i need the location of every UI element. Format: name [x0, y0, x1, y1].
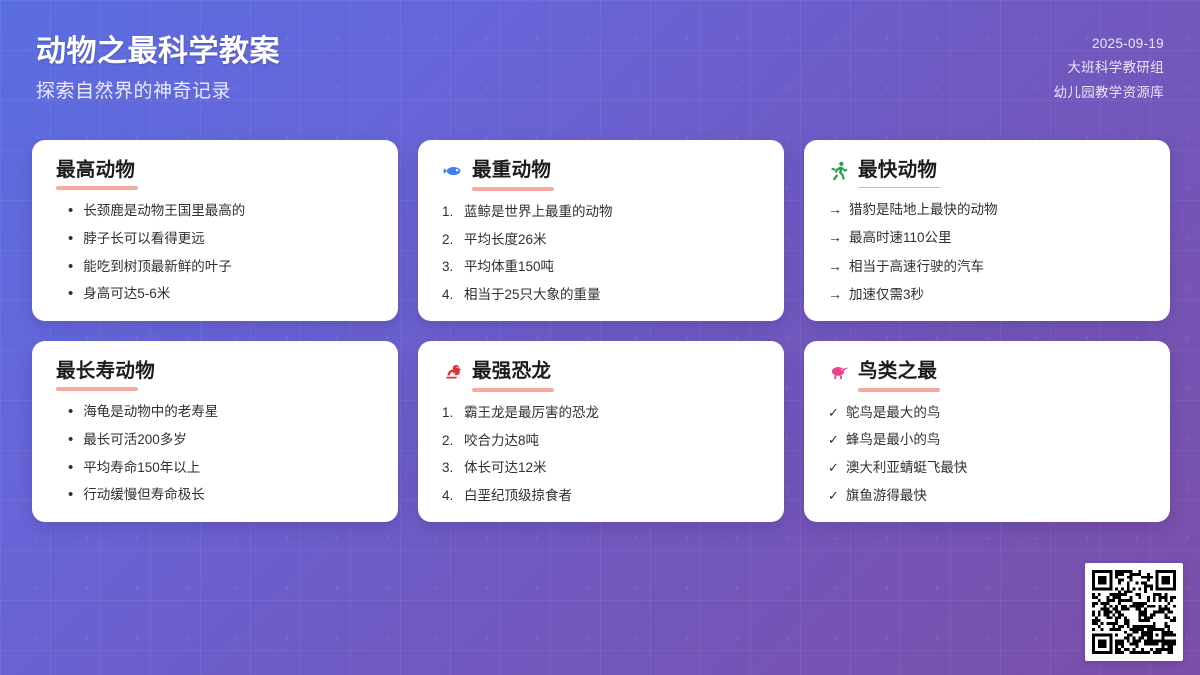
card-header: 鸟类之最 [828, 361, 1146, 383]
list-marker: ✓ [828, 404, 839, 423]
list-item-text: 身高可达5-6米 [83, 284, 170, 304]
title-block: 动物之最科学教案 探索自然界的神奇记录 [36, 26, 280, 103]
list-marker: • [68, 487, 73, 502]
list-marker: • [68, 432, 73, 447]
list-item-text: 平均体重150吨 [464, 257, 554, 277]
list-marker: 1. [442, 202, 457, 222]
list-item-text: 行动缓慢但寿命极长 [83, 485, 205, 505]
card-list: 1.霸王龙是最厉害的恐龙2.咬合力达8吨3.体长可达12米4.白垩纪顶级掠食者 [442, 403, 760, 505]
meta-source: 幼儿园教学资源库 [1054, 81, 1164, 101]
fish-icon [442, 160, 464, 182]
list-item-text: 白垩纪顶级掠食者 [464, 486, 572, 506]
list-item-text: 鸵鸟是最大的鸟 [846, 403, 941, 423]
list-marker: → [828, 227, 842, 247]
fact-card[interactable]: 最重动物1.蓝鲸是世界上最重的动物2.平均长度26米3.平均体重150吨4.相当… [418, 140, 784, 321]
card-title: 最长寿动物 [56, 361, 155, 382]
list-item: •长颈鹿是动物王国里最高的 [56, 201, 374, 221]
list-item: ✓蜂鸟是最小的鸟 [828, 430, 1146, 450]
list-item: •海龟是动物中的老寿星 [56, 402, 374, 422]
list-item-text: 猎豹是陆地上最快的动物 [849, 200, 998, 220]
slide-header: 动物之最科学教案 探索自然界的神奇记录 2025-09-19 大班科学教研组 幼… [0, 0, 1200, 122]
fact-card[interactable]: 鸟类之最✓鸵鸟是最大的鸟✓蜂鸟是最小的鸟✓澳大利亚蜻蜓飞最快✓旗鱼游得最快 [804, 341, 1170, 522]
dinosaur-icon [442, 361, 464, 383]
meta-group: 大班科学教研组 [1067, 56, 1164, 76]
title-underline [858, 388, 940, 392]
title-underline [858, 187, 940, 188]
running-person-icon [828, 160, 850, 182]
list-marker: ✓ [828, 431, 839, 450]
card-title: 最快动物 [858, 160, 937, 181]
list-item: ✓鸵鸟是最大的鸟 [828, 403, 1146, 423]
list-item-text: 能吃到树顶最新鲜的叶子 [83, 257, 232, 277]
fish-icon [442, 160, 464, 182]
list-marker: ✓ [828, 487, 839, 506]
list-item: 1.霸王龙是最厉害的恐龙 [442, 403, 760, 423]
list-item: ✓澳大利亚蜻蜓飞最快 [828, 458, 1146, 478]
list-marker: 3. [442, 458, 457, 478]
list-marker: • [68, 460, 73, 475]
list-item-text: 旗鱼游得最快 [846, 486, 927, 506]
list-item-text: 蓝鲸是世界上最重的动物 [464, 202, 613, 222]
list-item-text: 长颈鹿是动物王国里最高的 [83, 201, 245, 221]
list-marker: • [68, 231, 73, 246]
list-marker: 4. [442, 486, 457, 506]
card-header: 最快动物 [828, 160, 1146, 182]
card-list: →猎豹是陆地上最快的动物→最高时速110公里→相当于高速行驶的汽车→加速仅需3秒 [828, 199, 1146, 305]
bird-icon [828, 361, 850, 383]
list-item-text: 澳大利亚蜻蜓飞最快 [846, 458, 968, 478]
list-marker: • [68, 286, 73, 301]
list-item-text: 脖子长可以看得更远 [83, 229, 205, 249]
list-item: →猎豹是陆地上最快的动物 [828, 199, 1146, 220]
card-list: •海龟是动物中的老寿星•最长可活200多岁•平均寿命150年以上•行动缓慢但寿命… [56, 402, 374, 504]
card-header: 最重动物 [442, 160, 760, 182]
list-item: 3.体长可达12米 [442, 458, 760, 478]
title-underline [472, 388, 554, 392]
list-marker: • [68, 404, 73, 419]
list-marker: • [68, 203, 73, 218]
list-item: →最高时速110公里 [828, 227, 1146, 248]
list-marker: → [828, 256, 842, 276]
list-item-text: 平均寿命150年以上 [83, 458, 200, 478]
list-item: •脖子长可以看得更远 [56, 229, 374, 249]
list-item-text: 霸王龙是最厉害的恐龙 [464, 403, 599, 423]
fact-card[interactable]: 最快动物→猎豹是陆地上最快的动物→最高时速110公里→相当于高速行驶的汽车→加速… [804, 140, 1170, 321]
list-item: 2.平均长度26米 [442, 230, 760, 250]
list-item-text: 蜂鸟是最小的鸟 [846, 430, 941, 450]
list-item: 1.蓝鲸是世界上最重的动物 [442, 202, 760, 222]
list-item: •能吃到树顶最新鲜的叶子 [56, 257, 374, 277]
list-item-text: 咬合力达8吨 [464, 431, 539, 451]
list-marker: → [828, 199, 842, 219]
list-item: •行动缓慢但寿命极长 [56, 485, 374, 505]
list-item: •身高可达5-6米 [56, 284, 374, 304]
list-item-text: 体长可达12米 [464, 458, 547, 478]
list-item-text: 相当于高速行驶的汽车 [849, 257, 984, 277]
card-list: 1.蓝鲸是世界上最重的动物2.平均长度26米3.平均体重150吨4.相当于25只… [442, 202, 760, 304]
list-item-text: 相当于25只大象的重量 [464, 285, 601, 305]
meta-block: 2025-09-19 大班科学教研组 幼儿园教学资源库 [1054, 26, 1164, 101]
list-item: 4.相当于25只大象的重量 [442, 285, 760, 305]
list-item: 3.平均体重150吨 [442, 257, 760, 277]
meta-date: 2025-09-19 [1092, 36, 1164, 51]
list-item: →加速仅需3秒 [828, 284, 1146, 305]
card-title: 鸟类之最 [858, 361, 937, 382]
cards-grid: 最高动物•长颈鹿是动物王国里最高的•脖子长可以看得更远•能吃到树顶最新鲜的叶子•… [32, 140, 1168, 522]
qr-code[interactable] [1085, 563, 1183, 661]
card-header: 最强恐龙 [442, 361, 760, 383]
list-item-text: 最长可活200多岁 [83, 430, 187, 450]
dinosaur-icon [442, 361, 464, 383]
title-underline [56, 387, 138, 391]
card-list: •长颈鹿是动物王国里最高的•脖子长可以看得更远•能吃到树顶最新鲜的叶子•身高可达… [56, 201, 374, 303]
title-underline [56, 186, 138, 190]
card-title: 最强恐龙 [472, 361, 551, 382]
running-person-icon [828, 160, 850, 182]
list-item-text: 平均长度26米 [464, 230, 547, 250]
fact-card[interactable]: 最强恐龙1.霸王龙是最厉害的恐龙2.咬合力达8吨3.体长可达12米4.白垩纪顶级… [418, 341, 784, 522]
list-marker: 2. [442, 230, 457, 250]
list-item-text: 加速仅需3秒 [849, 285, 924, 305]
list-item-text: 海龟是动物中的老寿星 [83, 402, 218, 422]
list-item: 2.咬合力达8吨 [442, 431, 760, 451]
page-subtitle: 探索自然界的神奇记录 [36, 76, 280, 103]
card-header: 最高动物 [56, 160, 374, 181]
fact-card[interactable]: 最高动物•长颈鹿是动物王国里最高的•脖子长可以看得更远•能吃到树顶最新鲜的叶子•… [32, 140, 398, 321]
list-marker: → [828, 284, 842, 304]
fact-card[interactable]: 最长寿动物•海龟是动物中的老寿星•最长可活200多岁•平均寿命150年以上•行动… [32, 341, 398, 522]
card-header: 最长寿动物 [56, 361, 374, 382]
list-item: →相当于高速行驶的汽车 [828, 256, 1146, 277]
title-underline [472, 187, 554, 191]
list-item: 4.白垩纪顶级掠食者 [442, 486, 760, 506]
card-title: 最高动物 [56, 160, 135, 181]
list-marker: 2. [442, 431, 457, 451]
list-marker: ✓ [828, 459, 839, 478]
list-marker: • [68, 259, 73, 274]
card-list: ✓鸵鸟是最大的鸟✓蜂鸟是最小的鸟✓澳大利亚蜻蜓飞最快✓旗鱼游得最快 [828, 403, 1146, 506]
bird-icon [828, 361, 850, 383]
list-item-text: 最高时速110公里 [849, 228, 952, 248]
list-item: •最长可活200多岁 [56, 430, 374, 450]
list-marker: 4. [442, 285, 457, 305]
list-marker: 3. [442, 257, 457, 277]
list-item: ✓旗鱼游得最快 [828, 486, 1146, 506]
list-marker: 1. [442, 403, 457, 423]
list-item: •平均寿命150年以上 [56, 458, 374, 478]
card-title: 最重动物 [472, 160, 551, 181]
qr-code-image [1092, 570, 1176, 654]
page-title: 动物之最科学教案 [36, 26, 280, 70]
